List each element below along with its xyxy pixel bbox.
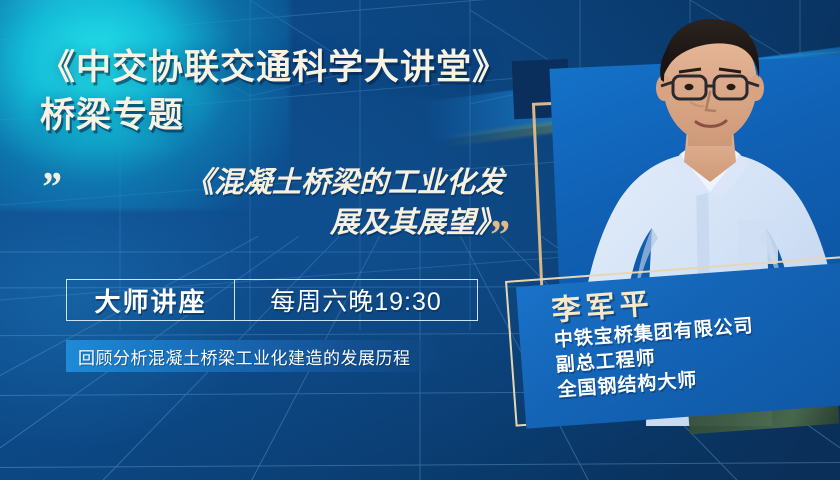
subtitle-quote-block: ” 《混凝土桥梁的工业化发 展及其展望》 ”	[36, 163, 536, 268]
subtitle-line-2: 展及其展望》	[84, 203, 504, 243]
lecture-badge-label: 大师讲座	[67, 280, 235, 320]
summary-text: 回顾分析混凝土桥梁工业化建造的发展历程	[78, 344, 411, 369]
speaker-info-panel: 李军平 中铁宝桥集团有限公司 副总工程师 全国钢结构大师	[516, 262, 840, 429]
subtitle-line-1: 《混凝土桥梁的工业化发	[84, 163, 504, 203]
title-line-2: 桥梁专题	[40, 94, 560, 138]
title-line-1: 《中交协联交通科学大讲堂》	[40, 46, 560, 90]
poster-title: 《中交协联交通科学大讲堂》 桥梁专题	[40, 46, 560, 138]
lecture-badge: 大师讲座 每周六晚19:30	[66, 279, 478, 321]
poster-canvas: 《中交协联交通科学大讲堂》 桥梁专题 ” 《混凝土桥梁的工业化发 展及其展望》 …	[0, 0, 840, 480]
summary-strip: 回顾分析混凝土桥梁工业化建造的发展历程	[66, 340, 478, 372]
subtitle-text: 《混凝土桥梁的工业化发 展及其展望》	[84, 163, 504, 243]
lecture-badge-schedule: 每周六晚19:30	[235, 280, 477, 320]
quote-open-icon: ”	[40, 167, 58, 209]
quote-close-icon: ”	[488, 215, 506, 257]
